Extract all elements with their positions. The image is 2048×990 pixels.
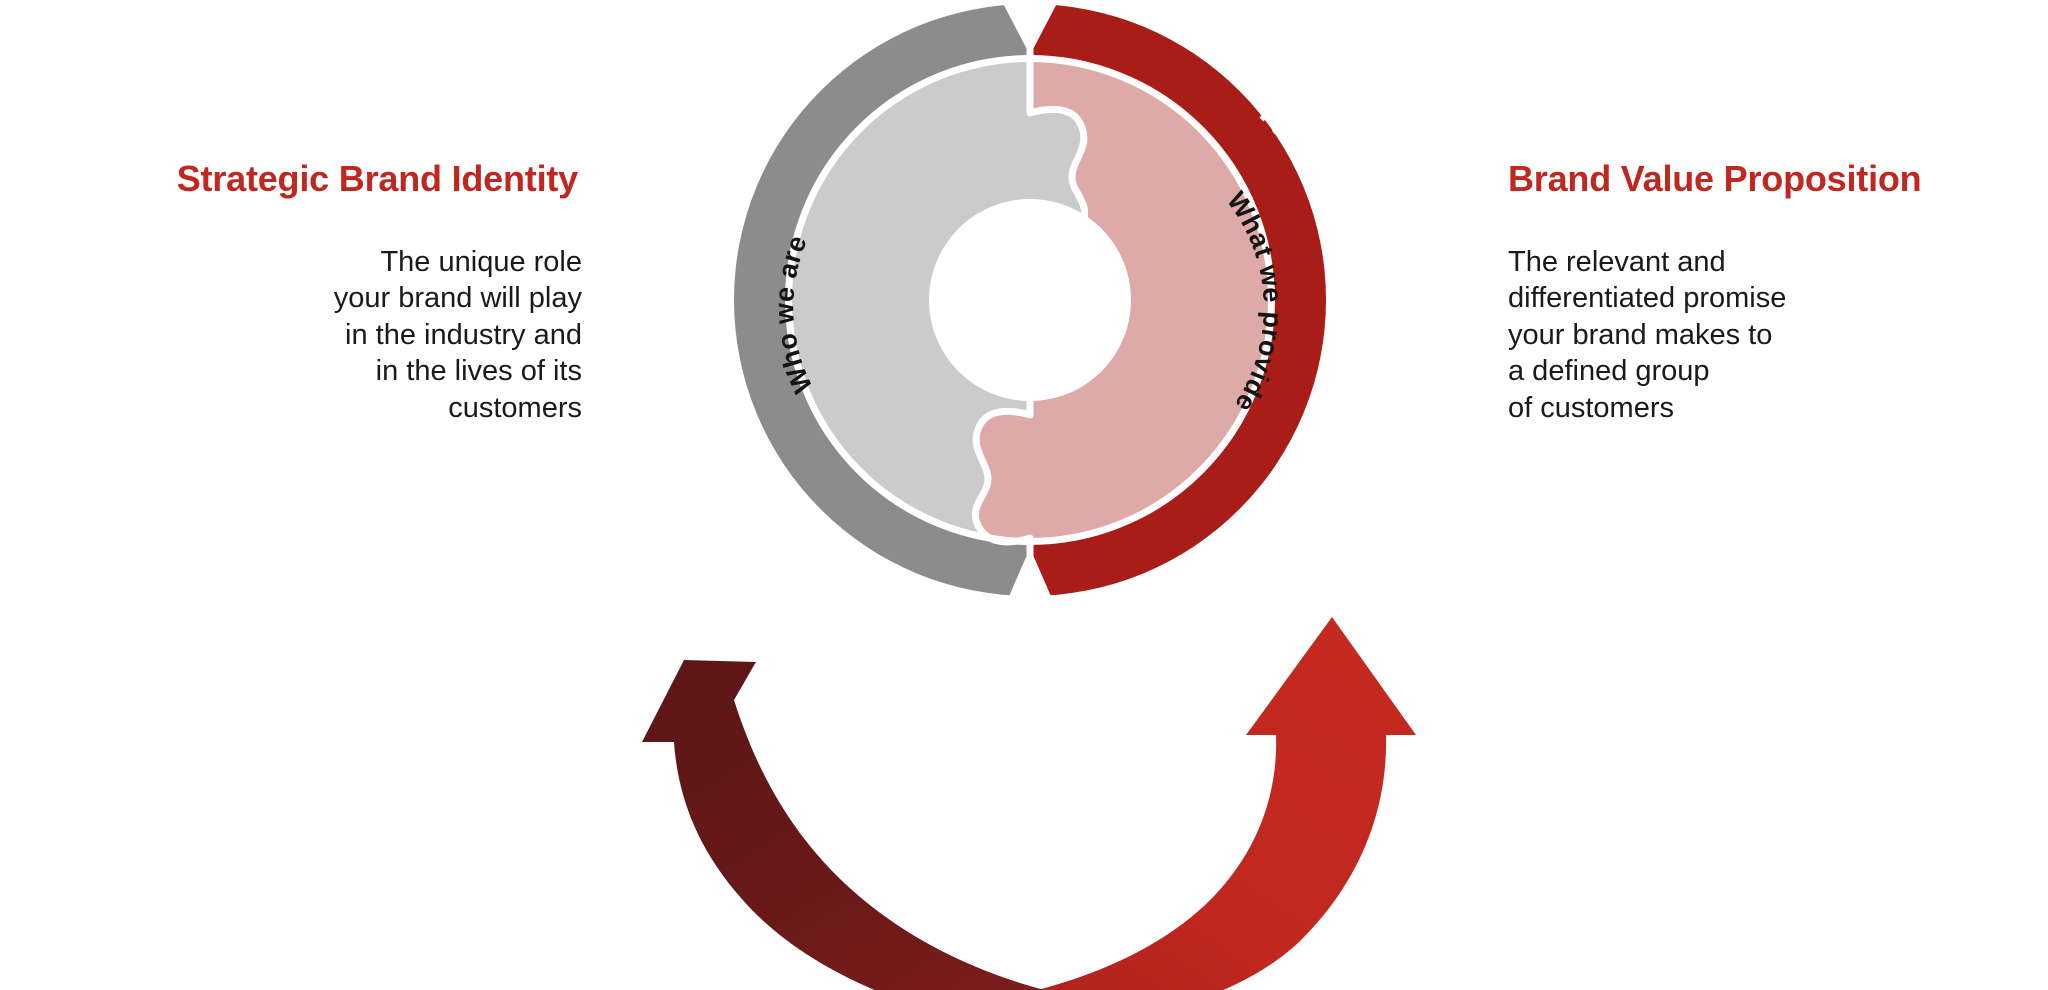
left-caption-block: Strategic Brand Identity The unique role… [0, 160, 600, 426]
right-caption-block: Brand Value Proposition The relevant and… [1498, 160, 2048, 426]
right-body-line: The relevant and [1508, 244, 2048, 281]
left-body-line: The unique role [0, 244, 582, 281]
diagram-canvas: Strategic Brand Identity The unique role… [0, 0, 2048, 990]
left-body-line: customers [0, 390, 582, 427]
right-body-line: your brand makes to [1508, 317, 2048, 354]
right-body-line: differentiated promise [1508, 280, 2048, 317]
left-body-line: your brand will play [0, 280, 582, 317]
right-heading: Brand Value Proposition [1508, 160, 2048, 198]
left-body-line: in the industry and [0, 317, 582, 354]
right-body-line: of customers [1508, 390, 2048, 427]
puzzle-donut-diagram: Brand Identity Who we are Brand Value Pr… [560, 0, 1510, 990]
left-body: The unique role your brand will play in … [0, 198, 582, 427]
right-body: The relevant and differentiated promise … [1508, 198, 2048, 427]
right-body-line: a defined group [1508, 353, 2048, 390]
left-body-line: in the lives of its [0, 353, 582, 390]
center-hole [929, 199, 1131, 401]
left-heading: Strategic Brand Identity [0, 160, 582, 198]
